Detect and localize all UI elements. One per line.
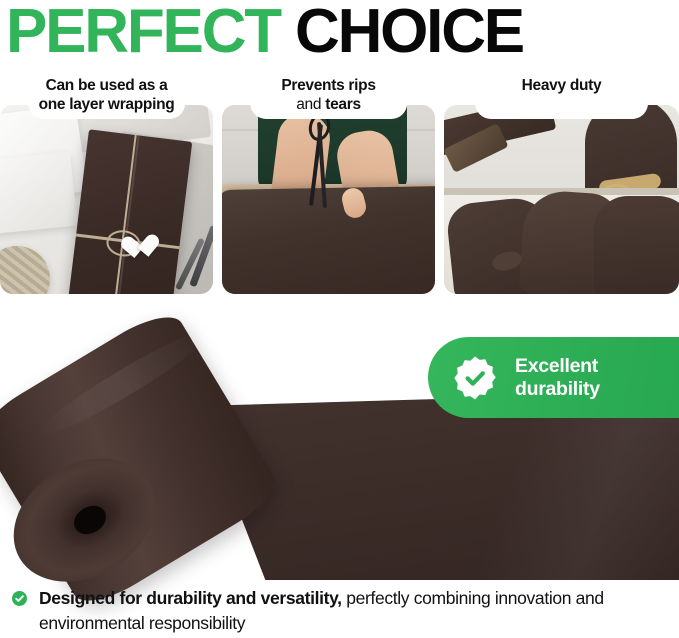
twine-vertical — [113, 135, 137, 294]
excellent-durability-badge: Excellent durability — [428, 337, 679, 418]
feature-photo-wrapped-bundles — [444, 105, 679, 294]
feature-caption-line2-bold: tears — [325, 96, 361, 113]
white-gift-box-lower — [0, 152, 78, 237]
footer-text: Designed for durability and versatility,… — [39, 586, 667, 636]
feature-card-heavy-duty: Heavy duty — [444, 72, 679, 294]
brown-paper-sheet — [222, 186, 435, 294]
badge-label-line2: durability — [515, 378, 600, 400]
feature-caption: Can be used as a one layer wrapping — [0, 72, 213, 114]
feature-caption: Prevents rips and tears — [222, 72, 435, 114]
feature-caption-line2: one layer wrapping — [39, 96, 175, 113]
badge-label-line1: Excellent — [515, 355, 598, 377]
footer-text-bold: Designed for durability and versatility, — [39, 588, 342, 608]
check-circle-icon — [12, 591, 27, 606]
page-title: PERFECT CHOICE — [6, 0, 523, 66]
title-word-perfect: PERFECT — [6, 0, 280, 66]
title-word-choice: CHOICE — [295, 0, 523, 66]
feature-caption-line1: Prevents rips — [281, 77, 375, 94]
feature-caption: Heavy duty — [444, 72, 679, 95]
paper-sheen — [400, 392, 679, 580]
feature-caption-line1: Can be used as a — [46, 77, 168, 94]
feature-caption-line1: Heavy duty — [522, 77, 602, 94]
feature-card-prevents-rips: Prevents rips and tears — [222, 72, 435, 294]
feature-card-one-layer-wrapping: Can be used as a one layer wrapping — [0, 72, 213, 294]
feature-photo-gift-wrapping — [0, 105, 213, 294]
feature-caption-line2-light: and — [296, 96, 325, 113]
check-seal-icon — [452, 355, 498, 401]
brown-wrapped-gift — [68, 129, 193, 294]
white-heart-tag — [126, 235, 155, 264]
footer-statement: Designed for durability and versatility,… — [12, 586, 667, 636]
feature-card-row: Can be used as a one layer wrapping — [0, 72, 679, 294]
badge-label: Excellent durability — [515, 355, 600, 401]
caption-notch — [475, 105, 649, 119]
feature-photo-cutting-paper — [222, 105, 435, 294]
wrapped-bundle-three — [594, 196, 679, 294]
